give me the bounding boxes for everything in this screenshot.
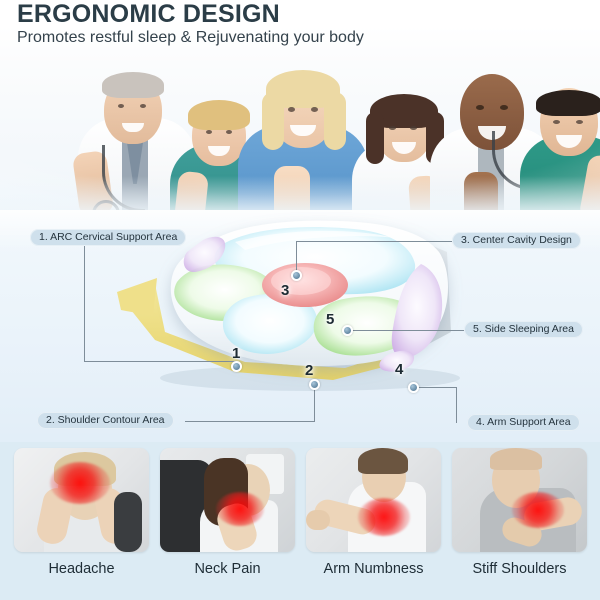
callout-leader-1-vertical: [84, 246, 85, 362]
callout-number-5: 5: [326, 312, 334, 327]
callout-leader-1-horizontal: [84, 361, 236, 362]
callout-leader-2-vertical: [314, 388, 315, 422]
symptom-card-list: Headache Neck Pain: [0, 448, 600, 552]
callout-leader-3-horizontal: [296, 241, 452, 242]
pain-indicator-neck-pain: [216, 492, 264, 526]
callout-label-1: 1. ARC Cervical Support Area: [30, 229, 186, 246]
symptom-card-arm-numbness: [306, 448, 441, 552]
pain-indicator-headache: [50, 462, 110, 504]
callout-number-4: 4: [395, 362, 403, 377]
symptom-card-stiff-shoulders: [452, 448, 587, 552]
callout-label-3: 3. Center Cavity Design: [452, 232, 581, 249]
symptom-card-neck-pain: [160, 448, 295, 552]
callout-leader-4-vertical: [456, 387, 457, 423]
callout-leader-5-horizontal: [348, 330, 464, 331]
callout-number-1: 1: [232, 346, 240, 361]
symptom-caption-neck-pain: Neck Pain: [160, 560, 295, 578]
callout-dot-5: [342, 325, 353, 336]
callout-number-3: 3: [281, 283, 289, 298]
symptoms-section: Headache Neck Pain: [0, 442, 600, 600]
callout-label-5: 5. Side Sleeping Area: [464, 321, 583, 338]
callout-leader-4-horizontal: [413, 387, 457, 388]
pain-indicator-arm-numbness: [358, 498, 410, 536]
header: ERGONOMIC DESIGN Promotes restful sleep …: [0, 0, 600, 52]
callout-dot-1: [231, 361, 242, 372]
callout-dot-4: [408, 382, 419, 393]
callout-number-2: 2: [305, 363, 313, 378]
symptom-caption-headache: Headache: [14, 560, 149, 578]
hero-photo-doctors: [0, 26, 600, 236]
callout-dot-2: [309, 379, 320, 390]
infographic-page: ERGONOMIC DESIGN Promotes restful sleep …: [0, 0, 600, 600]
page-subtitle: Promotes restful sleep & Rejuvenating yo…: [17, 29, 364, 47]
callout-leader-2-horizontal: [185, 421, 315, 422]
page-title: ERGONOMIC DESIGN: [17, 1, 280, 27]
callout-dot-3: [291, 270, 302, 281]
pain-indicator-stiff-shoulders: [512, 492, 564, 528]
symptom-caption-arm-numbness: Arm Numbness: [306, 560, 441, 578]
callout-label-2: 2. Shoulder Contour Area: [37, 412, 174, 429]
callout-label-4: 4. Arm Support Area: [467, 414, 580, 431]
symptom-card-headache: [14, 448, 149, 552]
symptom-caption-stiff-shoulders: Stiff Shoulders: [452, 560, 587, 578]
